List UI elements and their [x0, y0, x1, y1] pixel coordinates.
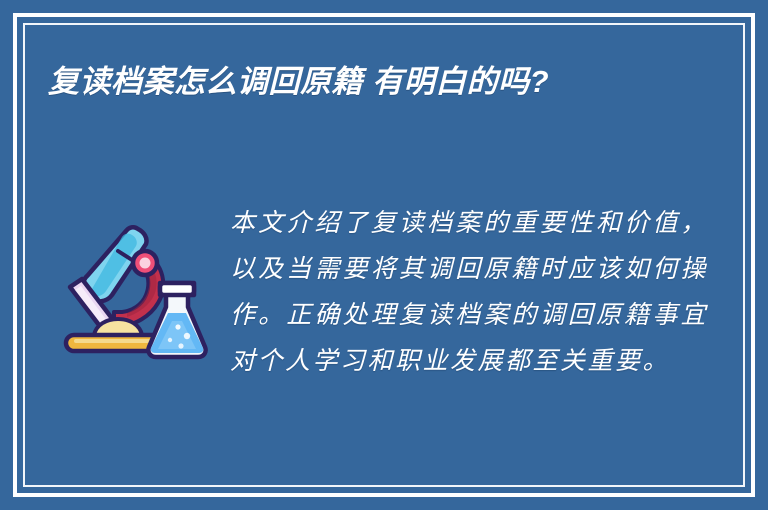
microscope-lens-icon	[133, 251, 157, 275]
page-title: 复读档案怎么调回原籍 有明白的吗?	[48, 56, 668, 108]
article-summary-text: 本文介绍了复读档案的重要性和价值，以及当需要将其调回原籍时应该如何操作。正确处理…	[230, 201, 708, 385]
content-row: 本文介绍了复读档案的重要性和价值，以及当需要将其调回原籍时应该如何操作。正确处理…	[48, 195, 708, 385]
microscope-and-flask-illustration	[48, 209, 208, 369]
article-cover-card: 复读档案怎么调回原籍 有明白的吗?	[0, 0, 768, 510]
